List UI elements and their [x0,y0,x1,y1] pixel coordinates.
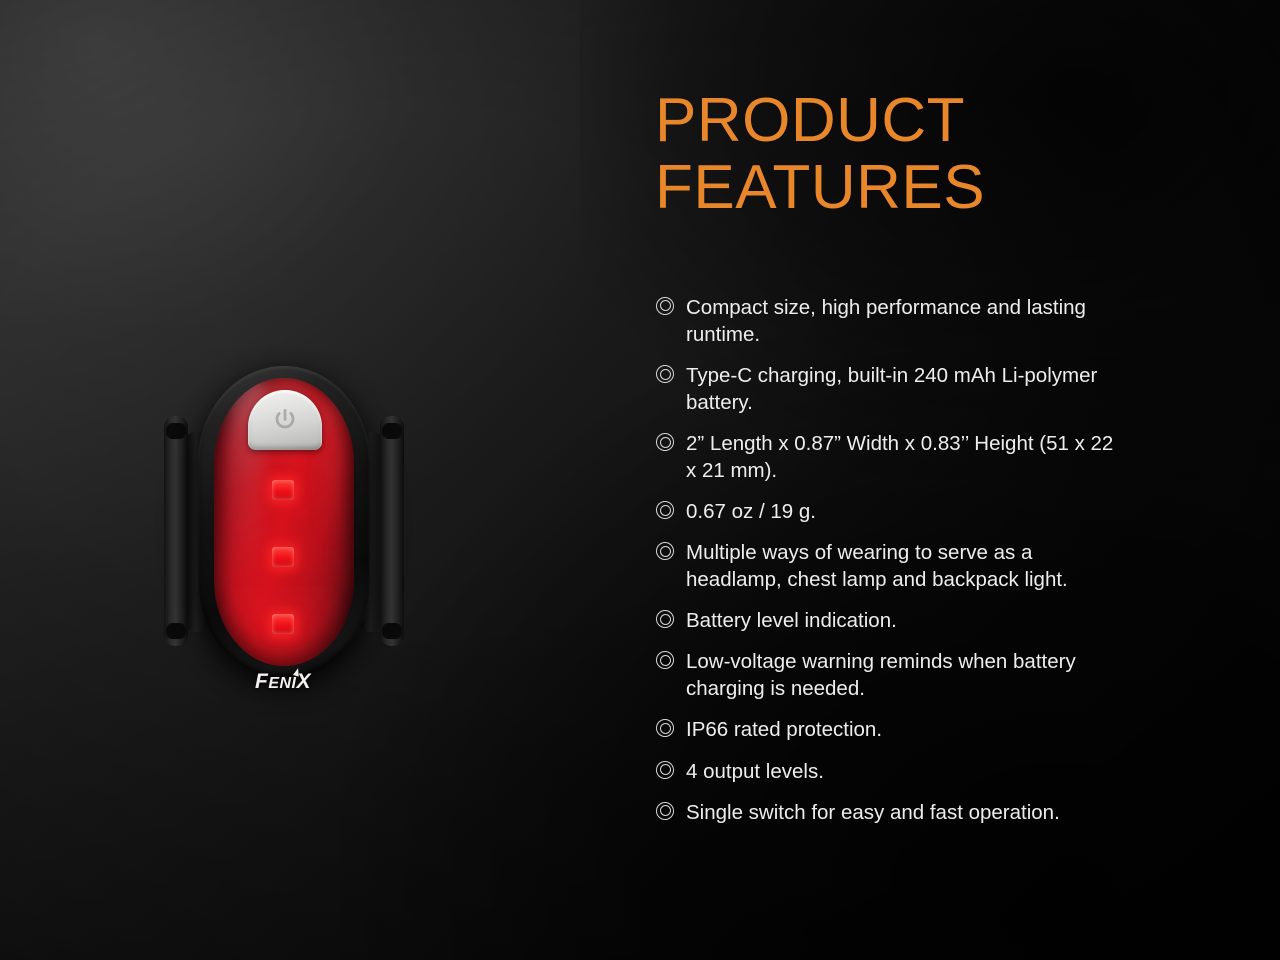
feature-text: Battery level indication. [686,607,897,634]
double-circle-bullet-icon [655,650,677,672]
led-indicator-2 [272,547,294,567]
double-circle-bullet-icon [655,500,677,522]
product-image: FENIX [138,340,428,700]
led-indicator-1 [272,480,294,500]
feature-text: IP66 rated protection. [686,716,882,743]
brand-letter-f: F [255,670,268,693]
list-item: 4 output levels. [655,758,1215,785]
list-item: Compact size, high performance and lasti… [655,294,1215,348]
list-item: Low-voltage warning reminds when battery… [655,648,1215,702]
double-circle-bullet-icon [655,432,677,454]
feature-text: Multiple ways of wearing to serve as a h… [686,539,1116,593]
double-circle-bullet-icon [655,760,677,782]
list-item: Single switch for easy and fast operatio… [655,799,1215,826]
features-panel: PRODUCT FEATURES Compact size, high perf… [655,88,1215,840]
double-circle-bullet-icon [655,718,677,740]
feature-text: Compact size, high performance and lasti… [686,294,1116,348]
brand-letter-e: E [268,675,279,692]
double-circle-bullet-icon [655,364,677,386]
feature-text: 2” Length x 0.87” Width x 0.83’’ Height … [686,430,1116,484]
mount-clip-right [380,416,404,646]
list-item: Battery level indication. [655,607,1215,634]
list-item: 2” Length x 0.87” Width x 0.83’’ Height … [655,430,1215,484]
product-features-slide: FENIX PRODUCT FEATURES Compact size, hig… [0,0,1280,960]
led-indicator-3 [272,614,294,634]
feature-text: Low-voltage warning reminds when battery… [686,648,1116,702]
list-item: Multiple ways of wearing to serve as a h… [655,539,1215,593]
double-circle-bullet-icon [655,296,677,318]
feature-text: Type-C charging, built-in 240 mAh Li-pol… [686,362,1116,416]
list-item: 0.67 oz / 19 g. [655,498,1215,525]
list-item: IP66 rated protection. [655,716,1215,743]
double-circle-bullet-icon [655,609,677,631]
list-item: Type-C charging, built-in 240 mAh Li-pol… [655,362,1215,416]
feature-text: Single switch for easy and fast operatio… [686,799,1060,826]
brand-letter-i: I [292,675,297,692]
power-icon [272,407,298,433]
double-circle-bullet-icon [655,541,677,563]
brand-logo: FENIX [255,670,311,694]
double-circle-bullet-icon [655,801,677,823]
feature-text: 0.67 oz / 19 g. [686,498,816,525]
page-title: PRODUCT FEATURES [655,88,1215,222]
brand-letter-n: N [279,675,291,692]
features-list: Compact size, high performance and lasti… [655,294,1215,826]
mount-clip-left [164,416,188,646]
feature-text: 4 output levels. [686,758,824,785]
